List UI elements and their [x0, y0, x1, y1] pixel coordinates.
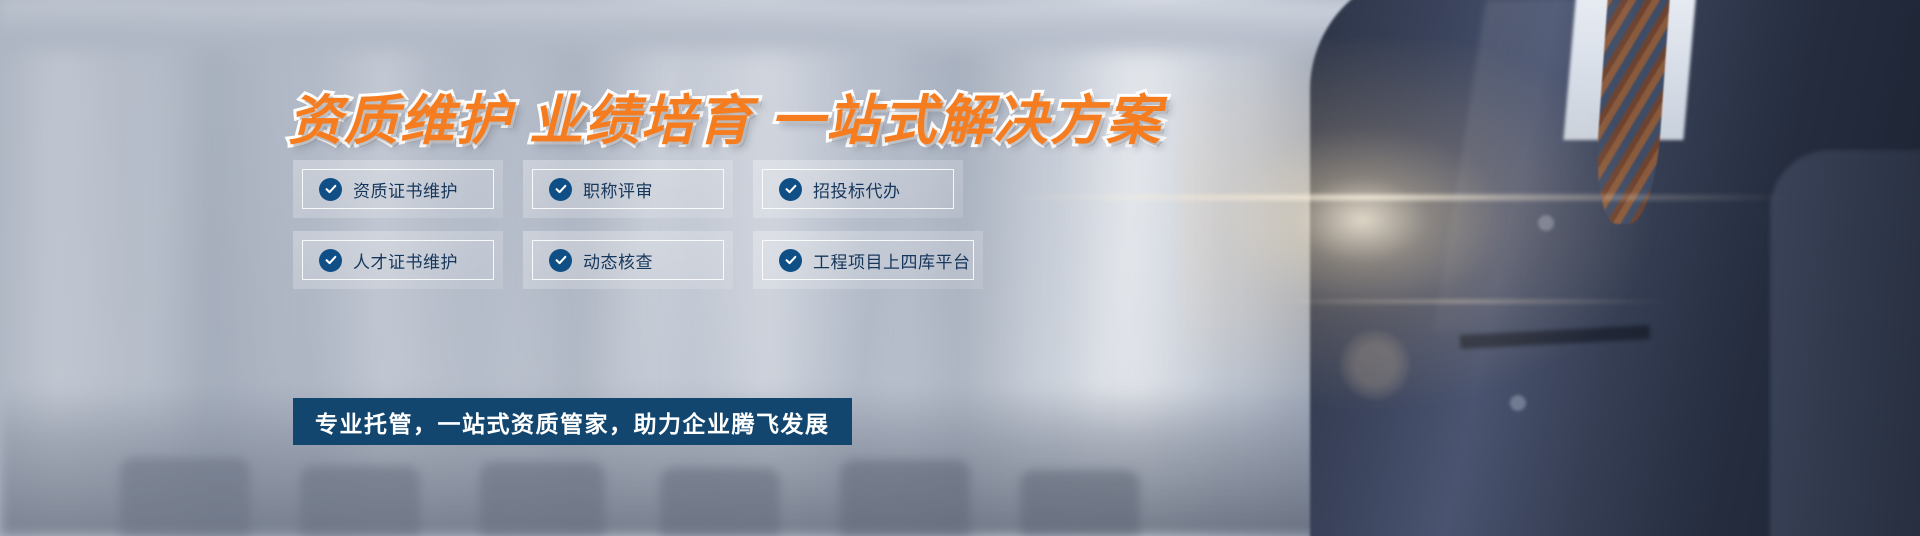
feature-card-grid: 资质证书维护 职称评审 招投标代办: [293, 160, 983, 289]
feature-card[interactable]: 招投标代办: [753, 160, 963, 218]
check-circle-icon: [549, 249, 572, 272]
businessman-photo: [1130, 0, 1920, 536]
feature-card-label: 职称评审: [583, 177, 653, 202]
feature-card[interactable]: 资质证书维护: [293, 160, 503, 218]
feature-card[interactable]: 动态核查: [523, 231, 733, 289]
lens-flare-ring: [1340, 330, 1410, 400]
banner-content: 资质维护 业绩培育 一站式解决方案 资质证书维护 职称评审: [0, 0, 1100, 536]
banner-tagline: 专业托管，一站式资质管家，助力企业腾飞发展: [293, 398, 852, 445]
feature-card[interactable]: 职称评审: [523, 160, 733, 218]
feature-card[interactable]: 人才证书维护: [293, 231, 503, 289]
feature-card-label: 人才证书维护: [353, 248, 458, 273]
feature-card[interactable]: 工程项目上四库平台: [753, 231, 983, 289]
check-circle-icon: [319, 178, 342, 201]
feature-card-label: 动态核查: [583, 248, 653, 273]
feature-card-label: 工程项目上四库平台: [813, 248, 971, 273]
feature-card-label: 资质证书维护: [353, 177, 458, 202]
check-circle-icon: [319, 249, 342, 272]
check-circle-icon: [779, 249, 802, 272]
banner-headline: 资质维护 业绩培育 一站式解决方案: [288, 76, 1162, 155]
check-circle-icon: [549, 178, 572, 201]
check-circle-icon: [779, 178, 802, 201]
promo-banner: 资质维护 业绩培育 一站式解决方案 资质证书维护 职称评审: [0, 0, 1920, 536]
feature-card-label: 招投标代办: [813, 177, 901, 202]
